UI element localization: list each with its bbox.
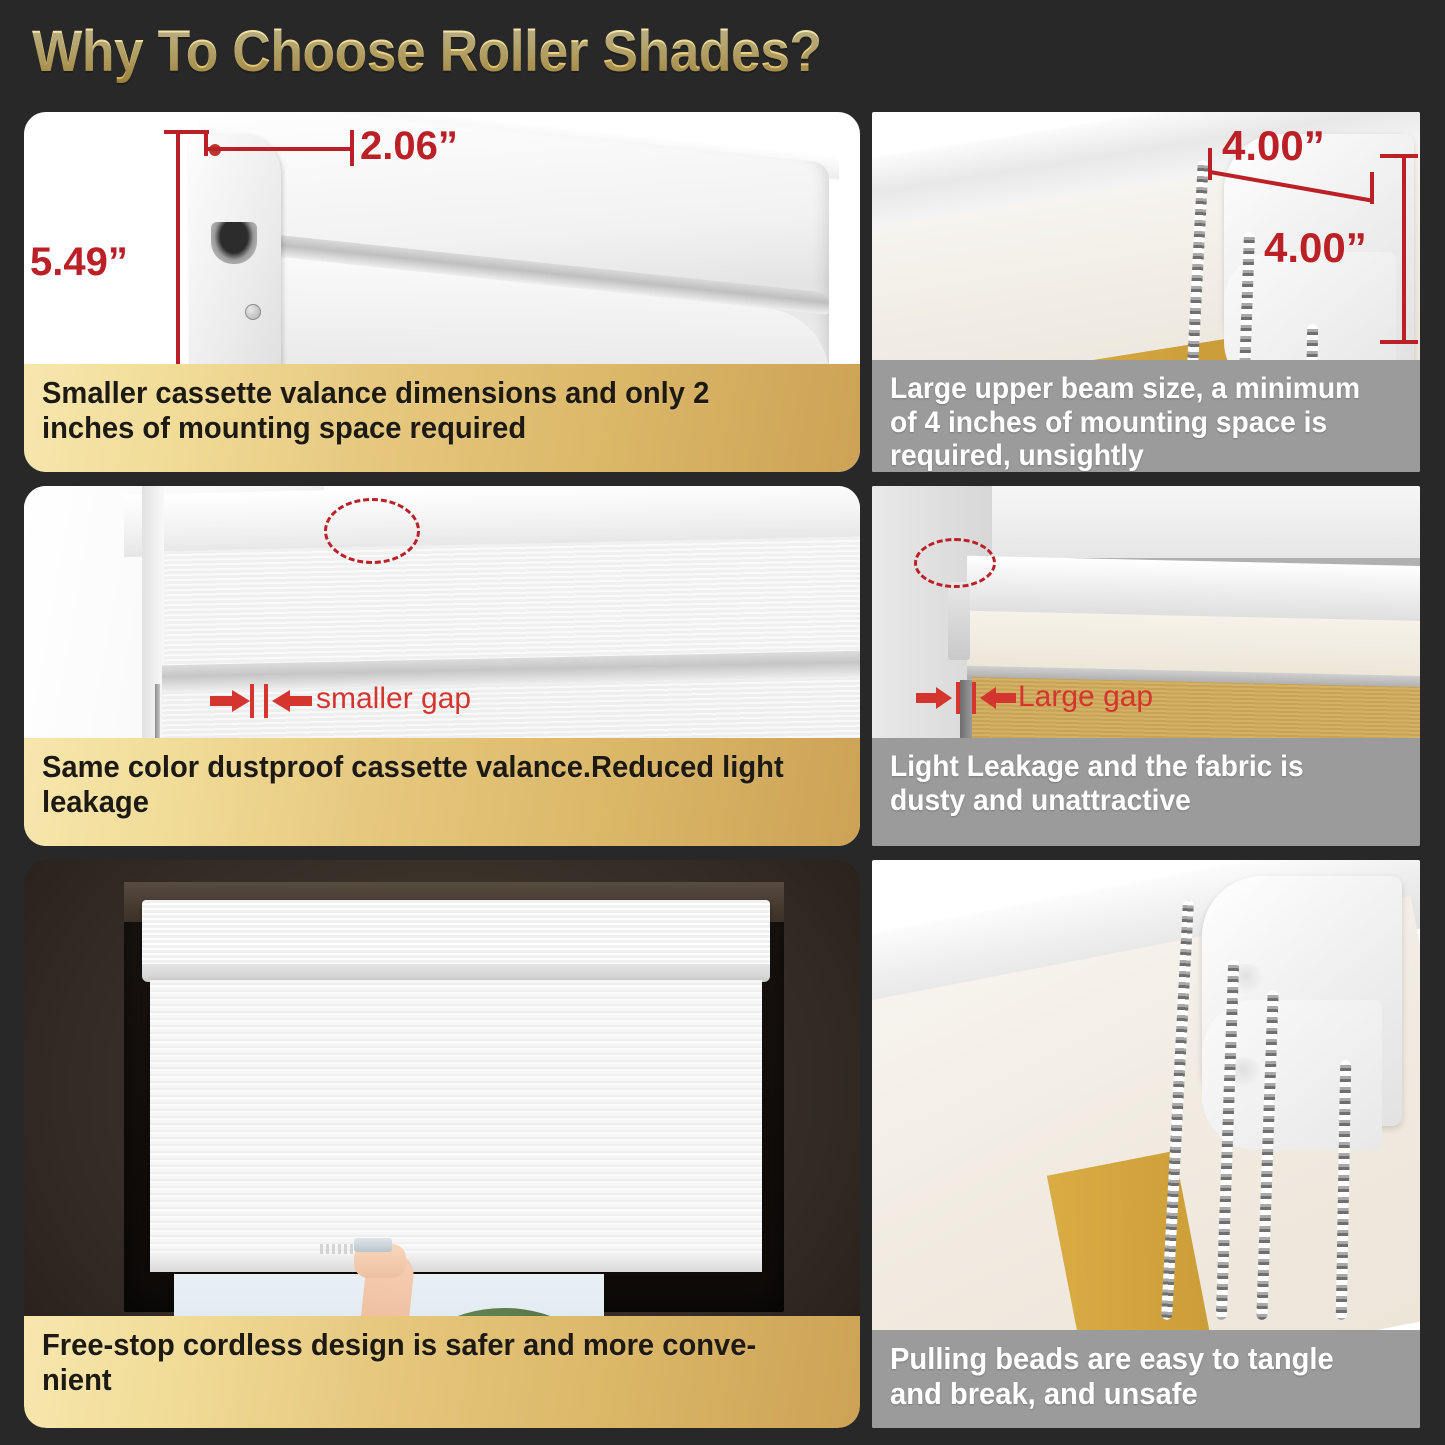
beam-width-tick-right [1370, 172, 1374, 204]
caption-text: Large upper beam size, a minimum of 4 in… [890, 372, 1371, 472]
depth-dimension-label: 2.06” [360, 124, 458, 169]
beam-height-tick-bottom [1380, 340, 1418, 344]
smaller-gap-label: smaller gap [316, 682, 471, 716]
infographic-page: Why To Choose Roller Shades? 2.06” [0, 0, 1445, 1445]
depth-dim-line [204, 147, 354, 151]
panel-dustproof-cassette: smaller gap Same color dustproof cassett… [24, 486, 860, 846]
bracket-slot-icon [211, 222, 257, 264]
gap-arrow-left-icon [978, 686, 1016, 710]
depth-dim-tick-right [350, 130, 354, 166]
gap-tick-left [956, 682, 960, 714]
gap-tick-right [264, 684, 268, 718]
light-leakage-photo: Large gap Light Leakage and the fabric i… [872, 486, 1420, 846]
large-beam-photo: 4.00” 4.00” Large upper beam size, a min… [872, 112, 1420, 472]
caption-text: Pulling beads are easy to tangle and bre… [890, 1342, 1371, 1411]
highlight-circle-icon [914, 538, 996, 588]
caption-text: Same color dustproof cassette valance.Re… [42, 750, 794, 819]
gap-tick-right [972, 682, 976, 714]
panel-caption: Large upper beam size, a minimum of 4 in… [872, 360, 1420, 472]
panel-caption: Pulling beads are easy to tangle and bre… [872, 1330, 1420, 1428]
height-dimension-label: 5.49” [30, 240, 128, 285]
panel-light-leakage: Large gap Light Leakage and the fabric i… [872, 486, 1420, 846]
window-frame-inner-edge [142, 486, 164, 756]
beam-width-tick-left [1208, 148, 1212, 180]
gap-arrow-left-icon [270, 688, 312, 714]
large-gap-label: Large gap [1018, 680, 1153, 714]
panel-large-upper-beam: 4.00” 4.00” Large upper beam size, a min… [872, 112, 1420, 472]
shade-upper-panel [164, 537, 860, 672]
panel-cordless-design: Free-stop cordless design is safer and m… [24, 860, 860, 1428]
bracket-screw-small-icon [245, 304, 261, 320]
panel-caption: Same color dustproof cassette valance.Re… [24, 738, 860, 846]
gap-arrow-right-icon [210, 688, 252, 714]
panel-caption: Free-stop cordless design is safer and m… [24, 1316, 860, 1428]
shade-fabric [150, 980, 762, 1260]
gap-arrow-right-icon [916, 686, 954, 710]
shade-bottom-rail [150, 1252, 762, 1272]
caption-text: Free-stop cordless design is safer and m… [42, 1328, 794, 1397]
beam-height-label: 4.00” [1264, 224, 1367, 272]
cassette-valance-photo: 2.06” 5.49” Smaller cassette valance dim… [24, 112, 860, 472]
height-dim-tick-top [164, 130, 209, 134]
dustproof-cassette-photo: smaller gap Same color dustproof cassett… [24, 486, 860, 846]
pull-tab-icon [354, 1238, 392, 1252]
highlight-circle-icon [324, 498, 420, 564]
caption-text: Smaller cassette valance dimensions and … [42, 376, 794, 445]
beam-height-tick-top [1380, 154, 1418, 158]
panel-smaller-cassette: 2.06” 5.49” Smaller cassette valance dim… [24, 112, 860, 472]
mounting-clip [948, 582, 970, 660]
beam-width-label: 4.00” [1222, 122, 1325, 170]
beam-height-dim-line [1402, 154, 1406, 344]
panel-pulling-beads: Pulling beads are easy to tangle and bre… [872, 860, 1420, 1428]
cassette-valance [142, 900, 770, 970]
panel-caption: Smaller cassette valance dimensions and … [24, 364, 860, 472]
caption-text: Light Leakage and the fabric is dusty an… [890, 750, 1371, 817]
page-title: Why To Choose Roller Shades? [32, 18, 822, 85]
cordless-window-photo: Free-stop cordless design is safer and m… [24, 860, 860, 1428]
pulling-beads-photo: Pulling beads are easy to tangle and bre… [872, 860, 1420, 1428]
panel-caption: Light Leakage and the fabric is dusty an… [872, 738, 1420, 846]
